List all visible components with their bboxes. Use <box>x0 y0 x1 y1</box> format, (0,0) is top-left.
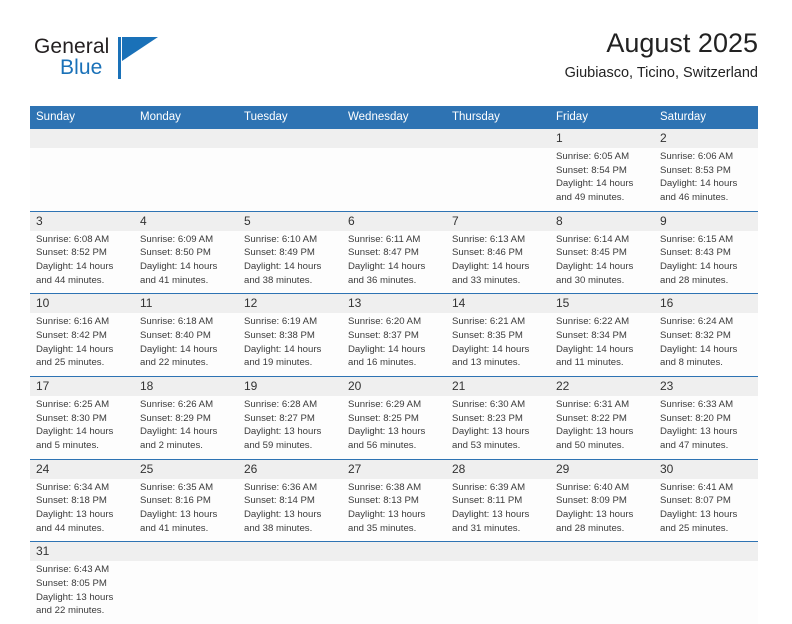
daylight-duration-line1: Daylight: 14 hours <box>36 425 126 439</box>
daylight-duration-line2: and 13 minutes. <box>452 356 542 370</box>
sunrise-time: Sunrise: 6:18 AM <box>140 315 230 329</box>
daylight-duration-line2: and 5 minutes. <box>36 439 126 453</box>
day-cell-details[interactable]: Sunrise: 6:21 AMSunset: 8:35 PMDaylight:… <box>446 313 550 376</box>
calendar-header-row: Sunday Monday Tuesday Wednesday Thursday… <box>30 106 758 129</box>
day-cell-details[interactable]: Sunrise: 6:36 AMSunset: 8:14 PMDaylight:… <box>238 479 342 542</box>
sunset-time: Sunset: 8:27 PM <box>244 412 334 426</box>
day-cell-details[interactable]: Sunrise: 6:34 AMSunset: 8:18 PMDaylight:… <box>30 479 134 542</box>
sunset-time: Sunset: 8:25 PM <box>348 412 438 426</box>
day-cell-details[interactable]: Sunrise: 6:15 AMSunset: 8:43 PMDaylight:… <box>654 231 758 294</box>
day-cell-details[interactable]: Sunrise: 6:40 AMSunset: 8:09 PMDaylight:… <box>550 479 654 542</box>
sunset-time: Sunset: 8:52 PM <box>36 246 126 260</box>
sunrise-time: Sunrise: 6:11 AM <box>348 233 438 247</box>
sunrise-time: Sunrise: 6:26 AM <box>140 398 230 412</box>
sunrise-time: Sunrise: 6:24 AM <box>660 315 750 329</box>
day-cell-details[interactable]: Sunrise: 6:13 AMSunset: 8:46 PMDaylight:… <box>446 231 550 294</box>
daylight-duration-line1: Daylight: 14 hours <box>140 343 230 357</box>
daylight-duration-line2: and 59 minutes. <box>244 439 334 453</box>
sunset-time: Sunset: 8:11 PM <box>452 494 542 508</box>
day-cell-details[interactable]: Sunrise: 6:24 AMSunset: 8:32 PMDaylight:… <box>654 313 758 376</box>
day-number[interactable]: 5 <box>238 211 342 231</box>
day-number[interactable]: 18 <box>134 376 238 396</box>
calendar-week-daynumbers: 12 <box>30 129 758 148</box>
daylight-duration-line2: and 30 minutes. <box>556 274 646 288</box>
daylight-duration-line1: Daylight: 14 hours <box>452 260 542 274</box>
day-number-empty <box>134 542 238 562</box>
daylight-duration-line2: and 49 minutes. <box>556 191 646 205</box>
sunrise-time: Sunrise: 6:06 AM <box>660 150 750 164</box>
day-cell-details[interactable]: Sunrise: 6:43 AMSunset: 8:05 PMDaylight:… <box>30 561 134 623</box>
day-number[interactable]: 28 <box>446 459 550 479</box>
daylight-duration-line2: and 31 minutes. <box>452 522 542 536</box>
day-number-empty <box>550 542 654 562</box>
weekday-header-wednesday: Wednesday <box>342 106 446 129</box>
daylight-duration-line1: Daylight: 13 hours <box>452 425 542 439</box>
calendar-week-daynumbers: 24252627282930 <box>30 459 758 479</box>
day-cell-details[interactable]: Sunrise: 6:33 AMSunset: 8:20 PMDaylight:… <box>654 396 758 459</box>
daylight-duration-line2: and 16 minutes. <box>348 356 438 370</box>
sunset-time: Sunset: 8:35 PM <box>452 329 542 343</box>
sunrise-time: Sunrise: 6:43 AM <box>36 563 126 577</box>
sunrise-time: Sunrise: 6:22 AM <box>556 315 646 329</box>
sunset-time: Sunset: 8:45 PM <box>556 246 646 260</box>
weekday-header-thursday: Thursday <box>446 106 550 129</box>
day-number[interactable]: 20 <box>342 376 446 396</box>
day-number[interactable]: 14 <box>446 294 550 314</box>
weekday-header-sunday: Sunday <box>30 106 134 129</box>
sunrise-time: Sunrise: 6:38 AM <box>348 481 438 495</box>
sunrise-time: Sunrise: 6:08 AM <box>36 233 126 247</box>
sunset-time: Sunset: 8:16 PM <box>140 494 230 508</box>
sunset-time: Sunset: 8:14 PM <box>244 494 334 508</box>
weekday-header-friday: Friday <box>550 106 654 129</box>
daylight-duration-line2: and 8 minutes. <box>660 356 750 370</box>
day-cell-details[interactable]: Sunrise: 6:05 AMSunset: 8:54 PMDaylight:… <box>550 148 654 211</box>
day-cell-empty <box>550 561 654 623</box>
daylight-duration-line2: and 41 minutes. <box>140 522 230 536</box>
daylight-duration-line2: and 33 minutes. <box>452 274 542 288</box>
sunrise-time: Sunrise: 6:21 AM <box>452 315 542 329</box>
daylight-duration-line2: and 22 minutes. <box>140 356 230 370</box>
day-number[interactable]: 9 <box>654 211 758 231</box>
daylight-duration-line2: and 41 minutes. <box>140 274 230 288</box>
day-cell-details[interactable]: Sunrise: 6:30 AMSunset: 8:23 PMDaylight:… <box>446 396 550 459</box>
sunrise-time: Sunrise: 6:35 AM <box>140 481 230 495</box>
day-number-empty <box>342 129 446 148</box>
sunset-time: Sunset: 8:54 PM <box>556 164 646 178</box>
calendar-week-details: Sunrise: 6:08 AMSunset: 8:52 PMDaylight:… <box>30 231 758 294</box>
sunset-time: Sunset: 8:32 PM <box>660 329 750 343</box>
day-cell-details[interactable]: Sunrise: 6:11 AMSunset: 8:47 PMDaylight:… <box>342 231 446 294</box>
page-subtitle: Giubiasco, Ticino, Switzerland <box>565 65 758 82</box>
calendar-week-details: Sunrise: 6:34 AMSunset: 8:18 PMDaylight:… <box>30 479 758 542</box>
daylight-duration-line1: Daylight: 13 hours <box>556 508 646 522</box>
day-number[interactable]: 3 <box>30 211 134 231</box>
sunrise-time: Sunrise: 6:09 AM <box>140 233 230 247</box>
sunrise-time: Sunrise: 6:33 AM <box>660 398 750 412</box>
daylight-duration-line1: Daylight: 14 hours <box>452 343 542 357</box>
sunset-time: Sunset: 8:46 PM <box>452 246 542 260</box>
daylight-duration-line2: and 44 minutes. <box>36 522 126 536</box>
day-cell-details[interactable]: Sunrise: 6:29 AMSunset: 8:25 PMDaylight:… <box>342 396 446 459</box>
day-number[interactable]: 2 <box>654 129 758 148</box>
brand-name-blue: Blue <box>60 57 102 78</box>
calendar-week-daynumbers: 17181920212223 <box>30 376 758 396</box>
day-cell-details[interactable]: Sunrise: 6:06 AMSunset: 8:53 PMDaylight:… <box>654 148 758 211</box>
daylight-duration-line1: Daylight: 13 hours <box>140 508 230 522</box>
day-number[interactable]: 8 <box>550 211 654 231</box>
day-cell-empty <box>238 561 342 623</box>
daylight-duration-line1: Daylight: 14 hours <box>140 260 230 274</box>
sunrise-time: Sunrise: 6:34 AM <box>36 481 126 495</box>
day-cell-details[interactable]: Sunrise: 6:19 AMSunset: 8:38 PMDaylight:… <box>238 313 342 376</box>
daylight-duration-line1: Daylight: 13 hours <box>348 425 438 439</box>
daylight-duration-line1: Daylight: 13 hours <box>36 508 126 522</box>
daylight-duration-line1: Daylight: 13 hours <box>660 425 750 439</box>
daylight-duration-line1: Daylight: 14 hours <box>556 260 646 274</box>
day-cell-details[interactable]: Sunrise: 6:10 AMSunset: 8:49 PMDaylight:… <box>238 231 342 294</box>
sunrise-time: Sunrise: 6:13 AM <box>452 233 542 247</box>
day-number[interactable]: 27 <box>342 459 446 479</box>
day-cell-empty <box>654 561 758 623</box>
day-number[interactable]: 29 <box>550 459 654 479</box>
day-number[interactable]: 4 <box>134 211 238 231</box>
day-number[interactable]: 25 <box>134 459 238 479</box>
daylight-duration-line1: Daylight: 14 hours <box>556 343 646 357</box>
sunrise-time: Sunrise: 6:31 AM <box>556 398 646 412</box>
day-cell-empty <box>446 148 550 211</box>
daylight-duration-line2: and 28 minutes. <box>556 522 646 536</box>
brand-name-general: General <box>34 36 109 57</box>
day-cell-details[interactable]: Sunrise: 6:26 AMSunset: 8:29 PMDaylight:… <box>134 396 238 459</box>
page-header: General Blue August 2025 Giubiasco, Tici… <box>34 28 758 98</box>
day-number[interactable]: 21 <box>446 376 550 396</box>
sunrise-time: Sunrise: 6:15 AM <box>660 233 750 247</box>
daylight-duration-line2: and 11 minutes. <box>556 356 646 370</box>
sunset-time: Sunset: 8:30 PM <box>36 412 126 426</box>
calendar-week-daynumbers: 31 <box>30 542 758 562</box>
daylight-duration-line2: and 2 minutes. <box>140 439 230 453</box>
calendar-week-daynumbers: 3456789 <box>30 211 758 231</box>
day-number[interactable]: 12 <box>238 294 342 314</box>
day-cell-details[interactable]: Sunrise: 6:25 AMSunset: 8:30 PMDaylight:… <box>30 396 134 459</box>
daylight-duration-line2: and 28 minutes. <box>660 274 750 288</box>
sunset-time: Sunset: 8:07 PM <box>660 494 750 508</box>
sunrise-time: Sunrise: 6:29 AM <box>348 398 438 412</box>
day-cell-details[interactable]: Sunrise: 6:14 AMSunset: 8:45 PMDaylight:… <box>550 231 654 294</box>
daylight-duration-line1: Daylight: 14 hours <box>660 343 750 357</box>
daylight-duration-line2: and 38 minutes. <box>244 522 334 536</box>
daylight-duration-line2: and 56 minutes. <box>348 439 438 453</box>
daylight-duration-line2: and 22 minutes. <box>36 604 126 618</box>
brand-divider-bar <box>118 37 121 79</box>
day-cell-empty <box>342 561 446 623</box>
daylight-duration-line1: Daylight: 13 hours <box>660 508 750 522</box>
daylight-duration-line1: Daylight: 14 hours <box>140 425 230 439</box>
calendar-week-details: Sunrise: 6:25 AMSunset: 8:30 PMDaylight:… <box>30 396 758 459</box>
daylight-duration-line1: Daylight: 13 hours <box>452 508 542 522</box>
daylight-duration-line2: and 47 minutes. <box>660 439 750 453</box>
daylight-duration-line2: and 46 minutes. <box>660 191 750 205</box>
weekday-header-saturday: Saturday <box>654 106 758 129</box>
sunrise-time: Sunrise: 6:30 AM <box>452 398 542 412</box>
sunrise-time: Sunrise: 6:36 AM <box>244 481 334 495</box>
sunset-time: Sunset: 8:53 PM <box>660 164 750 178</box>
sunset-time: Sunset: 8:34 PM <box>556 329 646 343</box>
day-number[interactable]: 1 <box>550 129 654 148</box>
day-cell-details[interactable]: Sunrise: 6:09 AMSunset: 8:50 PMDaylight:… <box>134 231 238 294</box>
daylight-duration-line2: and 25 minutes. <box>660 522 750 536</box>
day-number-empty <box>134 129 238 148</box>
daylight-duration-line1: Daylight: 13 hours <box>348 508 438 522</box>
day-number[interactable]: 19 <box>238 376 342 396</box>
day-number[interactable]: 16 <box>654 294 758 314</box>
sunrise-time: Sunrise: 6:16 AM <box>36 315 126 329</box>
day-cell-details[interactable]: Sunrise: 6:18 AMSunset: 8:40 PMDaylight:… <box>134 313 238 376</box>
day-cell-details[interactable]: Sunrise: 6:16 AMSunset: 8:42 PMDaylight:… <box>30 313 134 376</box>
daylight-duration-line2: and 19 minutes. <box>244 356 334 370</box>
day-number[interactable]: 13 <box>342 294 446 314</box>
calendar-week-details: Sunrise: 6:16 AMSunset: 8:42 PMDaylight:… <box>30 313 758 376</box>
day-cell-details[interactable]: Sunrise: 6:28 AMSunset: 8:27 PMDaylight:… <box>238 396 342 459</box>
day-cell-empty <box>238 148 342 211</box>
day-cell-details[interactable]: Sunrise: 6:22 AMSunset: 8:34 PMDaylight:… <box>550 313 654 376</box>
day-number[interactable]: 30 <box>654 459 758 479</box>
day-number-empty <box>342 542 446 562</box>
daylight-duration-line2: and 36 minutes. <box>348 274 438 288</box>
calendar-week-details: Sunrise: 6:05 AMSunset: 8:54 PMDaylight:… <box>30 148 758 211</box>
sunset-time: Sunset: 8:22 PM <box>556 412 646 426</box>
day-number[interactable]: 31 <box>30 542 134 562</box>
day-cell-details[interactable]: Sunrise: 6:35 AMSunset: 8:16 PMDaylight:… <box>134 479 238 542</box>
sunset-time: Sunset: 8:29 PM <box>140 412 230 426</box>
day-cell-empty <box>342 148 446 211</box>
day-number[interactable]: 26 <box>238 459 342 479</box>
sunrise-time: Sunrise: 6:39 AM <box>452 481 542 495</box>
day-number[interactable]: 23 <box>654 376 758 396</box>
sunrise-time: Sunrise: 6:10 AM <box>244 233 334 247</box>
day-number-empty <box>654 542 758 562</box>
weekday-header-tuesday: Tuesday <box>238 106 342 129</box>
day-number[interactable]: 6 <box>342 211 446 231</box>
day-number[interactable]: 22 <box>550 376 654 396</box>
brand-logo[interactable]: General Blue <box>34 36 234 92</box>
day-number-empty <box>238 542 342 562</box>
daylight-duration-line1: Daylight: 13 hours <box>244 508 334 522</box>
day-number[interactable]: 10 <box>30 294 134 314</box>
daylight-duration-line2: and 50 minutes. <box>556 439 646 453</box>
day-cell-details[interactable]: Sunrise: 6:20 AMSunset: 8:37 PMDaylight:… <box>342 313 446 376</box>
day-cell-details[interactable]: Sunrise: 6:31 AMSunset: 8:22 PMDaylight:… <box>550 396 654 459</box>
sunset-time: Sunset: 8:09 PM <box>556 494 646 508</box>
day-cell-empty <box>134 148 238 211</box>
sunrise-time: Sunrise: 6:20 AM <box>348 315 438 329</box>
daylight-duration-line2: and 53 minutes. <box>452 439 542 453</box>
sunset-time: Sunset: 8:49 PM <box>244 246 334 260</box>
sunset-time: Sunset: 8:23 PM <box>452 412 542 426</box>
daylight-duration-line1: Daylight: 14 hours <box>244 343 334 357</box>
daylight-duration-line1: Daylight: 13 hours <box>556 425 646 439</box>
day-number[interactable]: 17 <box>30 376 134 396</box>
daylight-duration-line1: Daylight: 14 hours <box>660 260 750 274</box>
sunset-time: Sunset: 8:18 PM <box>36 494 126 508</box>
sunset-time: Sunset: 8:05 PM <box>36 577 126 591</box>
sunset-time: Sunset: 8:50 PM <box>140 246 230 260</box>
sunrise-time: Sunrise: 6:14 AM <box>556 233 646 247</box>
calendar-week-details: Sunrise: 6:43 AMSunset: 8:05 PMDaylight:… <box>30 561 758 623</box>
sunset-time: Sunset: 8:38 PM <box>244 329 334 343</box>
day-number[interactable]: 24 <box>30 459 134 479</box>
daylight-duration-line2: and 25 minutes. <box>36 356 126 370</box>
weekday-header-monday: Monday <box>134 106 238 129</box>
sunset-time: Sunset: 8:20 PM <box>660 412 750 426</box>
calendar-body: 12Sunrise: 6:05 AMSunset: 8:54 PMDayligh… <box>30 129 758 624</box>
calendar-week-daynumbers: 10111213141516 <box>30 294 758 314</box>
sunrise-sunset-calendar: Sunday Monday Tuesday Wednesday Thursday… <box>30 106 758 624</box>
day-cell-details[interactable]: Sunrise: 6:08 AMSunset: 8:52 PMDaylight:… <box>30 231 134 294</box>
day-cell-empty <box>30 148 134 211</box>
sunrise-time: Sunrise: 6:05 AM <box>556 150 646 164</box>
day-number-empty <box>30 129 134 148</box>
daylight-duration-line1: Daylight: 14 hours <box>348 260 438 274</box>
daylight-duration-line2: and 38 minutes. <box>244 274 334 288</box>
day-cell-details[interactable]: Sunrise: 6:38 AMSunset: 8:13 PMDaylight:… <box>342 479 446 542</box>
daylight-duration-line1: Daylight: 13 hours <box>244 425 334 439</box>
sunset-time: Sunset: 8:37 PM <box>348 329 438 343</box>
day-number-empty <box>238 129 342 148</box>
sunset-time: Sunset: 8:40 PM <box>140 329 230 343</box>
day-cell-empty <box>446 561 550 623</box>
daylight-duration-line1: Daylight: 14 hours <box>244 260 334 274</box>
triangle-flag-icon <box>122 37 158 61</box>
day-number[interactable]: 7 <box>446 211 550 231</box>
sunset-time: Sunset: 8:47 PM <box>348 246 438 260</box>
daylight-duration-line1: Daylight: 14 hours <box>36 260 126 274</box>
day-number-empty <box>446 129 550 148</box>
sunrise-time: Sunrise: 6:25 AM <box>36 398 126 412</box>
daylight-duration-line1: Daylight: 14 hours <box>348 343 438 357</box>
sunrise-time: Sunrise: 6:28 AM <box>244 398 334 412</box>
sunset-time: Sunset: 8:43 PM <box>660 246 750 260</box>
sunset-time: Sunset: 8:42 PM <box>36 329 126 343</box>
sunrise-time: Sunrise: 6:41 AM <box>660 481 750 495</box>
day-number[interactable]: 15 <box>550 294 654 314</box>
calendar-page: General Blue August 2025 Giubiasco, Tici… <box>0 0 792 612</box>
sunrise-time: Sunrise: 6:40 AM <box>556 481 646 495</box>
daylight-duration-line2: and 35 minutes. <box>348 522 438 536</box>
daylight-duration-line1: Daylight: 14 hours <box>556 177 646 191</box>
sunset-time: Sunset: 8:13 PM <box>348 494 438 508</box>
day-cell-details[interactable]: Sunrise: 6:39 AMSunset: 8:11 PMDaylight:… <box>446 479 550 542</box>
day-cell-details[interactable]: Sunrise: 6:41 AMSunset: 8:07 PMDaylight:… <box>654 479 758 542</box>
page-title: August 2025 <box>565 28 758 59</box>
daylight-duration-line1: Daylight: 14 hours <box>36 343 126 357</box>
day-cell-empty <box>134 561 238 623</box>
sunrise-time: Sunrise: 6:19 AM <box>244 315 334 329</box>
day-number-empty <box>446 542 550 562</box>
day-number[interactable]: 11 <box>134 294 238 314</box>
daylight-duration-line1: Daylight: 13 hours <box>36 591 126 605</box>
daylight-duration-line1: Daylight: 14 hours <box>660 177 750 191</box>
title-block: August 2025 Giubiasco, Ticino, Switzerla… <box>565 28 758 82</box>
daylight-duration-line2: and 44 minutes. <box>36 274 126 288</box>
